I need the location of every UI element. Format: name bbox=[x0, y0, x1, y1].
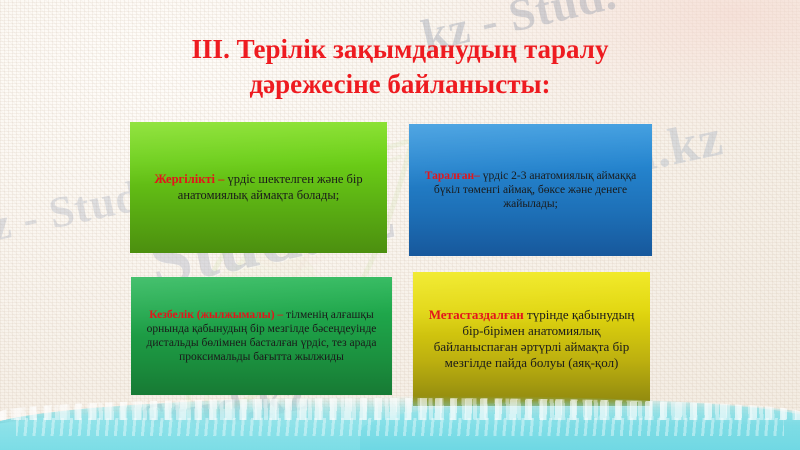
water-layer-right bbox=[360, 400, 800, 450]
metastatic-spread-lead: Метастаздалған bbox=[429, 307, 527, 322]
metastatic-spread-box[interactable]: Метастаздалған түрінде қабынудың бір-бір… bbox=[413, 272, 650, 406]
watercolor-band-decoration bbox=[0, 388, 800, 450]
disseminated-spread-text: Таралған– үрдіс 2-3 анатомиялық аймаққа … bbox=[409, 169, 652, 211]
presentation-slide: kz - Stud. Stud.kz kz - Stud Stud.kz Stu… bbox=[0, 0, 800, 450]
migratory-spread-box[interactable]: Кезбелік (жылжымалы) – тілменің алғашқы … bbox=[131, 277, 392, 395]
metastatic-spread-text: Метастаздалған түрінде қабынудың бір-бір… bbox=[413, 307, 650, 370]
disseminated-spread-box[interactable]: Таралған– үрдіс 2-3 анатомиялық аймаққа … bbox=[409, 124, 652, 256]
water-foam bbox=[0, 398, 800, 420]
local-spread-text: Жергілікті – үрдіс шектелген және бір ан… bbox=[130, 172, 387, 203]
migratory-spread-text: Кезбелік (жылжымалы) – тілменің алғашқы … bbox=[131, 308, 392, 364]
local-spread-lead: Жергілікті – bbox=[154, 172, 227, 186]
disseminated-spread-lead: Таралған– bbox=[425, 170, 483, 182]
slide-title: III. Терілік зақымданудың таралу дәрежес… bbox=[60, 32, 740, 101]
water-layer-back bbox=[0, 396, 800, 450]
water-layer-left bbox=[0, 406, 560, 450]
local-spread-box[interactable]: Жергілікті – үрдіс шектелген және бір ан… bbox=[130, 122, 387, 253]
water-speckle bbox=[16, 418, 784, 436]
slide-title-line-1: III. Терілік зақымданудың таралу bbox=[60, 32, 740, 67]
migratory-spread-lead: Кезбелік (жылжымалы) – bbox=[149, 309, 286, 321]
watermark-left-middle: kz - Stud bbox=[0, 170, 145, 257]
slide-title-line-2: дәрежесіне байланысты: bbox=[60, 67, 740, 102]
